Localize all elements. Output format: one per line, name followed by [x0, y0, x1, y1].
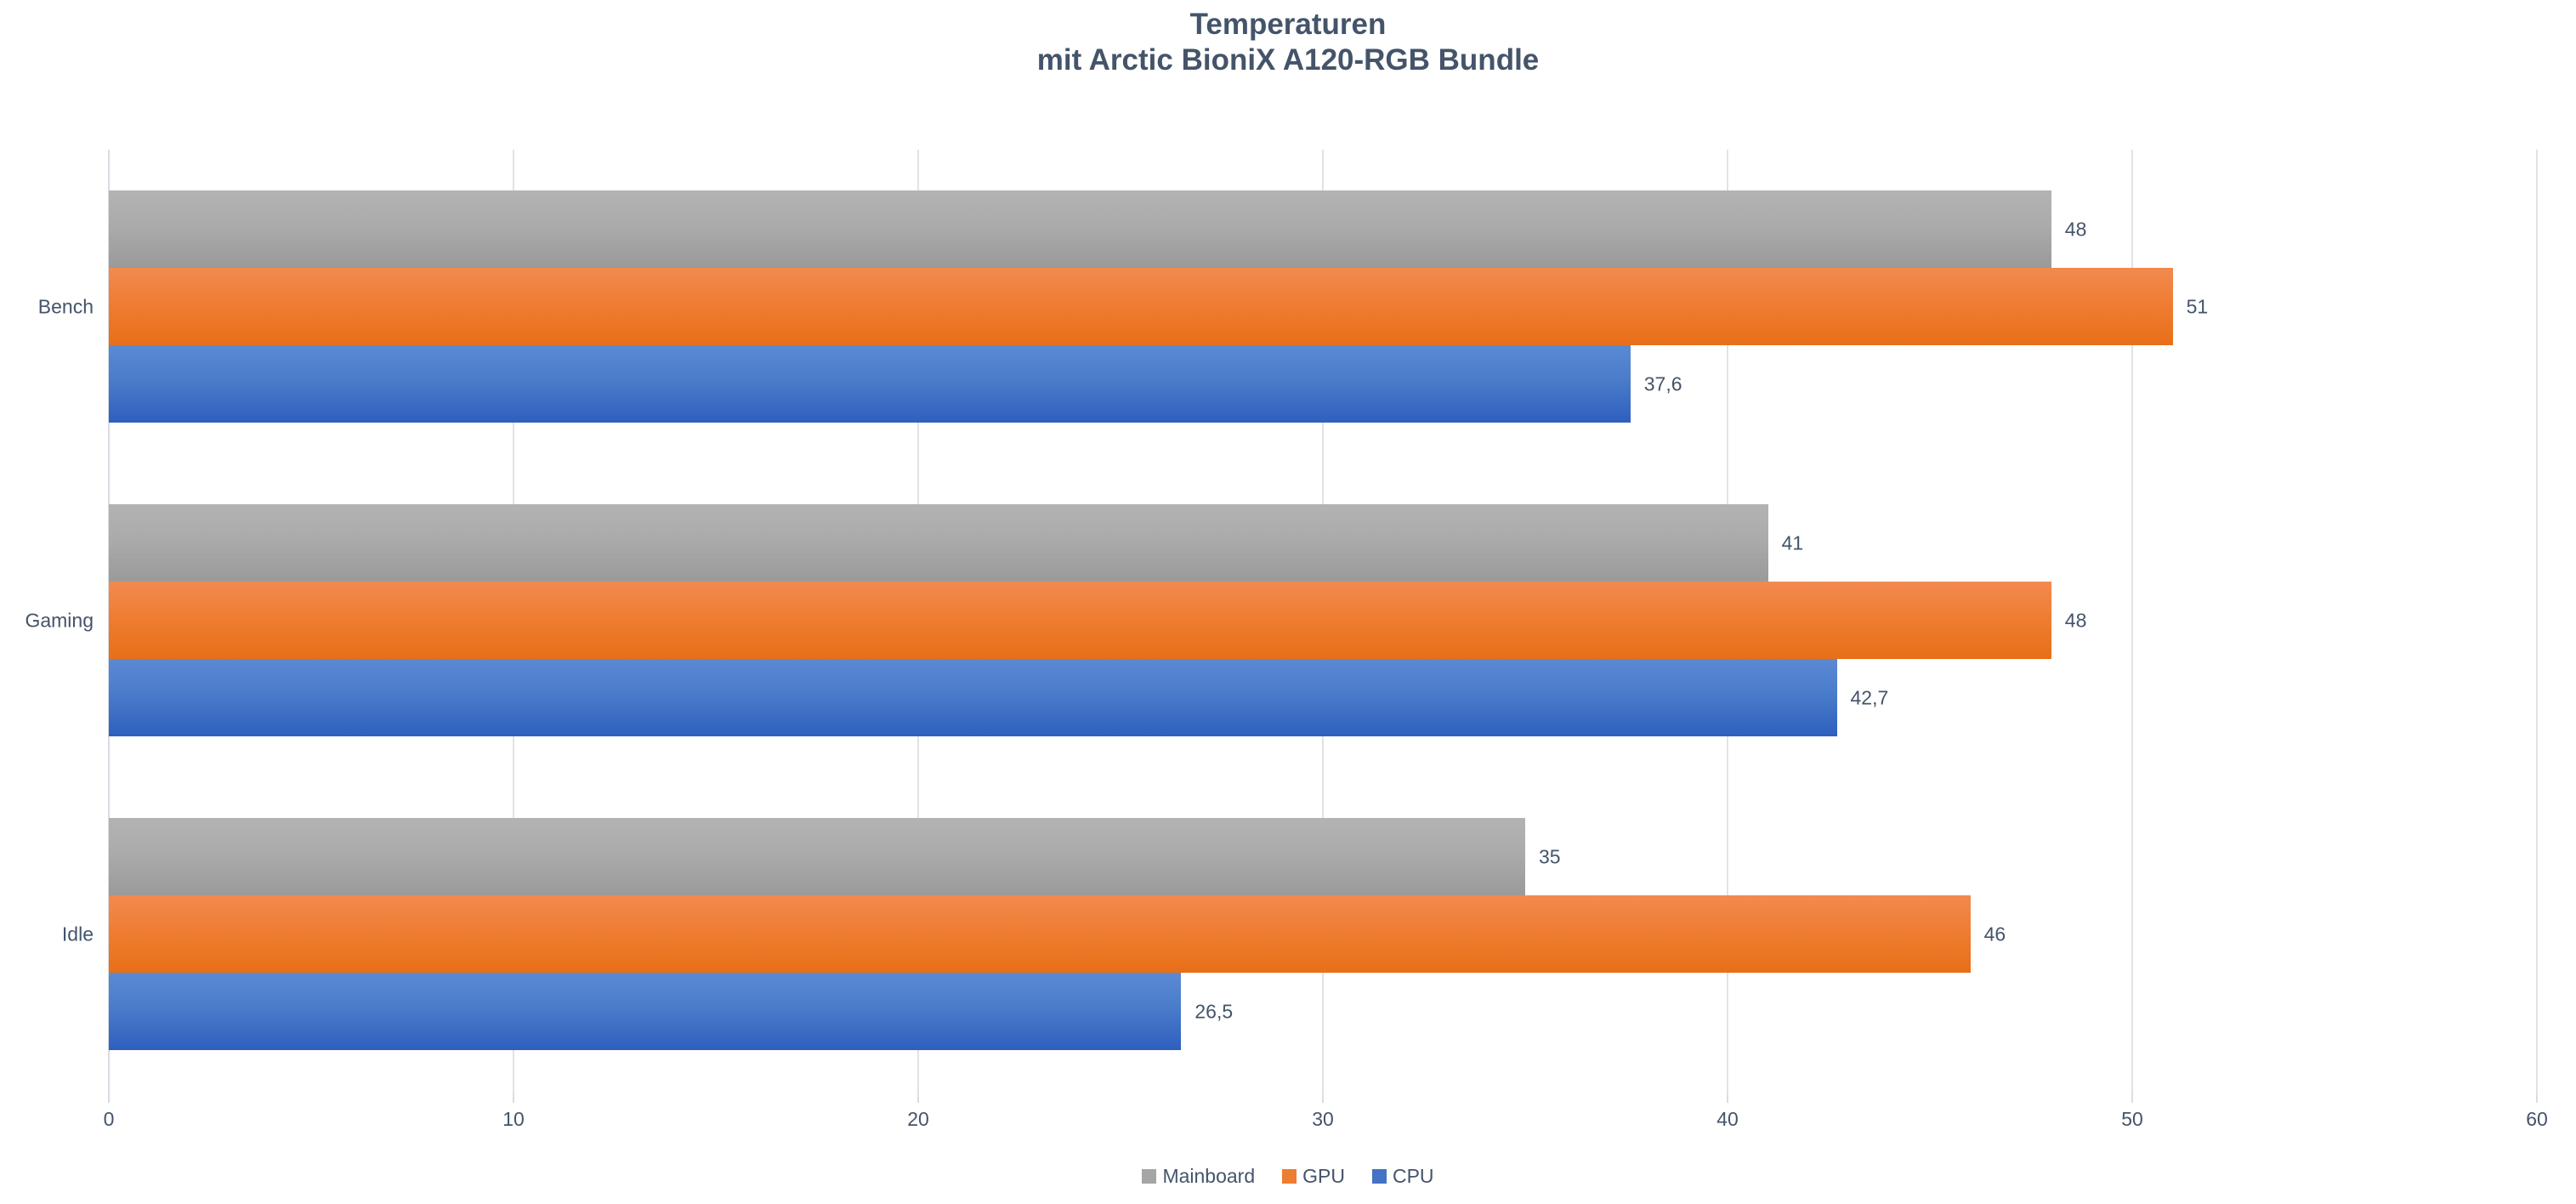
- x-axis-tick-label: 0: [104, 1108, 115, 1131]
- bar-value-label-mainboard-gaming: 41: [1782, 531, 1804, 554]
- bar-mainboard-gaming[interactable]: [109, 504, 1768, 582]
- x-axis-tick: [108, 1094, 110, 1103]
- chart-legend: MainboardGPUCPU: [0, 1165, 2576, 1188]
- legend-item-gpu[interactable]: GPU: [1282, 1165, 1345, 1188]
- x-axis-tick: [513, 1094, 514, 1103]
- bar-gpu-idle[interactable]: [109, 895, 1971, 973]
- x-axis-tick-label: 50: [2121, 1108, 2143, 1131]
- bar-value-label-cpu-gaming: 42,7: [1851, 686, 1889, 709]
- legend-item-cpu[interactable]: CPU: [1372, 1165, 1434, 1188]
- legend-label: CPU: [1393, 1165, 1434, 1188]
- bar-cpu-idle[interactable]: [109, 973, 1181, 1050]
- bar-mainboard-bench[interactable]: [109, 190, 2051, 268]
- bar-cpu-gaming[interactable]: [109, 659, 1837, 736]
- x-axis-tick-label: 20: [907, 1108, 929, 1131]
- x-axis-tick-label: 60: [2526, 1108, 2548, 1131]
- chart-container: Temperaturen mit Arctic BioniX A120-RGB …: [0, 0, 2576, 1204]
- bar-value-label-gpu-idle: 46: [1984, 923, 2006, 946]
- chart-title-line1: Temperaturen: [1190, 8, 1387, 41]
- bar-value-label-gpu-gaming: 48: [2065, 609, 2087, 632]
- x-axis-tick: [1727, 1094, 1728, 1103]
- legend-swatch-mainboard-icon: [1142, 1169, 1156, 1184]
- bar-value-label-mainboard-bench: 48: [2065, 218, 2087, 241]
- x-axis-tick-label: 10: [502, 1108, 525, 1131]
- chart-title-line2: mit Arctic BioniX A120-RGB Bundle: [0, 43, 2576, 78]
- x-axis-tick: [917, 1094, 919, 1103]
- x-axis-tick: [1322, 1094, 1324, 1103]
- gridline: [2536, 150, 2538, 1094]
- category-label-bench: Bench: [0, 295, 94, 318]
- bar-value-label-mainboard-idle: 35: [1539, 845, 1561, 868]
- x-axis-tick-label: 30: [1312, 1108, 1334, 1131]
- legend-item-mainboard[interactable]: Mainboard: [1142, 1165, 1255, 1188]
- bar-gpu-bench[interactable]: [109, 268, 2173, 345]
- bar-gpu-gaming[interactable]: [109, 582, 2051, 659]
- x-axis-tick-label: 40: [1716, 1108, 1739, 1131]
- x-axis-tick: [2131, 1094, 2133, 1103]
- x-axis-tick: [2536, 1094, 2538, 1103]
- bar-value-label-gpu-bench: 51: [2187, 295, 2209, 318]
- legend-swatch-gpu-icon: [1282, 1169, 1297, 1184]
- category-label-gaming: Gaming: [0, 609, 94, 632]
- legend-label: Mainboard: [1162, 1165, 1255, 1188]
- bar-mainboard-idle[interactable]: [109, 818, 1525, 895]
- category-label-idle: Idle: [0, 923, 94, 946]
- bar-value-label-cpu-idle: 26,5: [1194, 1000, 1233, 1023]
- legend-swatch-cpu-icon: [1372, 1169, 1387, 1184]
- bar-cpu-bench[interactable]: [109, 345, 1631, 423]
- bar-value-label-cpu-bench: 37,6: [1644, 372, 1682, 395]
- chart-title: Temperaturen mit Arctic BioniX A120-RGB …: [0, 7, 2576, 78]
- legend-label: GPU: [1302, 1165, 1345, 1188]
